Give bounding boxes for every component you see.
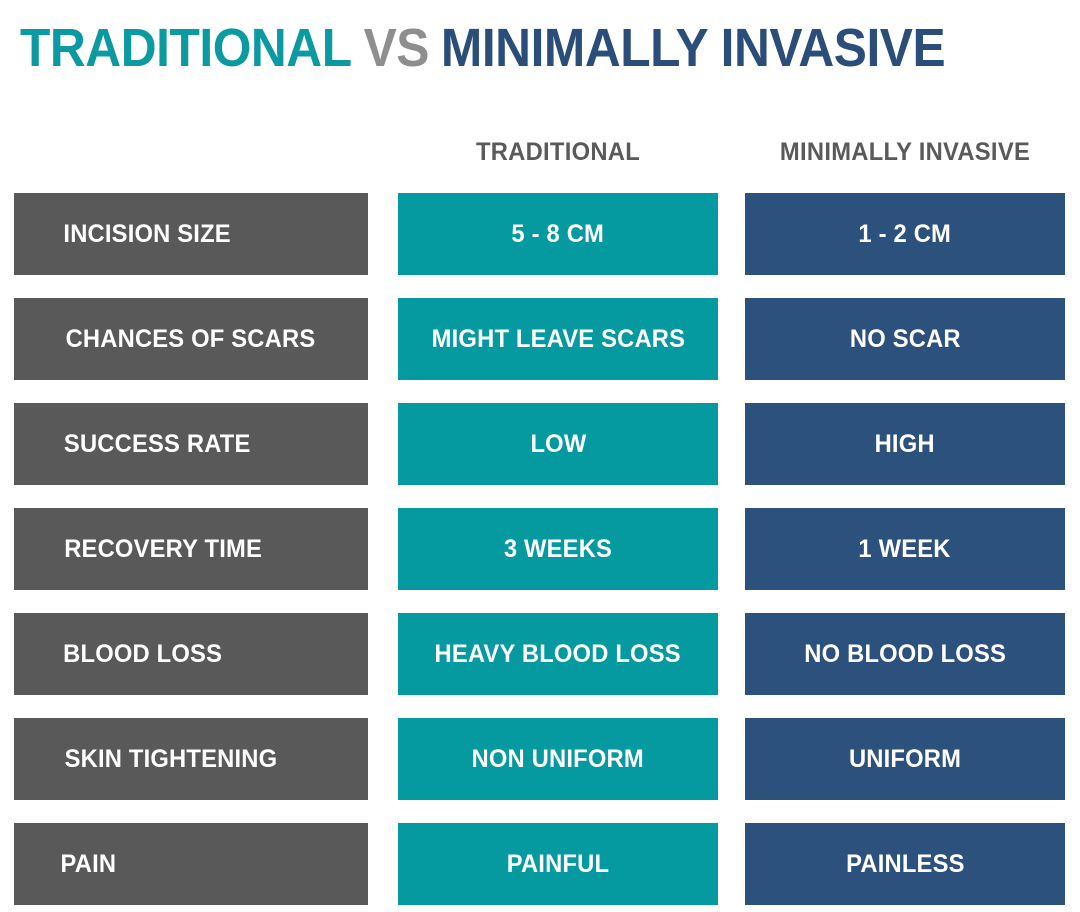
row-label-cell: SKIN TIGHTENING	[14, 718, 368, 800]
column-header-minimally-invasive: MINIMALLY INVASIVE	[753, 133, 1057, 171]
table-row: CHANCES OF SCARS MIGHT LEAVE SCARS NO SC…	[0, 298, 1080, 380]
column-header-traditional-label: TRADITIONAL	[476, 138, 640, 167]
minimally-invasive-value-cell: NO BLOOD LOSS	[745, 613, 1065, 695]
traditional-value-cell: HEAVY BLOOD LOSS	[398, 613, 718, 695]
row-label-text: RECOVERY TIME	[64, 535, 262, 564]
traditional-value-text: NON UNIFORM	[472, 745, 644, 774]
traditional-value-text: HEAVY BLOOD LOSS	[435, 640, 681, 669]
row-label-cell: PAIN	[14, 823, 368, 905]
row-label-cell: BLOOD LOSS	[14, 613, 368, 695]
table-row: PAIN PAINFUL PAINLESS	[0, 823, 1080, 905]
title-segment-vs: VS	[364, 21, 429, 75]
minimally-invasive-value-text: HIGH	[875, 430, 935, 459]
table-row: SUCCESS RATE LOW HIGH	[0, 403, 1080, 485]
minimally-invasive-value-text: PAINLESS	[846, 850, 965, 879]
traditional-value-text: 3 WEEKS	[504, 535, 612, 564]
comparison-table: INCISION SIZE 5 - 8 CM 1 - 2 CM CHANCES …	[0, 193, 1080, 905]
table-row: BLOOD LOSS HEAVY BLOOD LOSS NO BLOOD LOS…	[0, 613, 1080, 695]
row-label-text: CHANCES OF SCARS	[66, 325, 316, 354]
minimally-invasive-value-text: 1 WEEK	[859, 535, 951, 564]
page-title: TRADITIONAL VS MINIMALLY INVASIVE	[20, 14, 981, 82]
minimally-invasive-value-text: UNIFORM	[849, 745, 961, 774]
row-label-cell: SUCCESS RATE	[14, 403, 368, 485]
traditional-value-text: LOW	[530, 430, 586, 459]
minimally-invasive-value-cell: UNIFORM	[745, 718, 1065, 800]
title-segment-traditional: TRADITIONAL	[20, 21, 352, 75]
traditional-value-cell: PAINFUL	[398, 823, 718, 905]
minimally-invasive-value-cell: 1 - 2 CM	[745, 193, 1065, 275]
traditional-value-cell: LOW	[398, 403, 718, 485]
minimally-invasive-value-cell: PAINLESS	[745, 823, 1065, 905]
column-header-minimally-invasive-label: MINIMALLY INVASIVE	[780, 138, 1030, 167]
row-label-text: PAIN	[60, 850, 116, 879]
row-label-cell: RECOVERY TIME	[14, 508, 368, 590]
row-label-cell: CHANCES OF SCARS	[14, 298, 368, 380]
minimally-invasive-value-cell: NO SCAR	[745, 298, 1065, 380]
minimally-invasive-value-text: 1 - 2 CM	[859, 220, 952, 249]
table-row: INCISION SIZE 5 - 8 CM 1 - 2 CM	[0, 193, 1080, 275]
traditional-value-text: PAINFUL	[507, 850, 609, 879]
minimally-invasive-value-text: NO BLOOD LOSS	[804, 640, 1006, 669]
traditional-value-cell: 3 WEEKS	[398, 508, 718, 590]
minimally-invasive-value-cell: HIGH	[745, 403, 1065, 485]
comparison-infographic: TRADITIONAL VS MINIMALLY INVASIVE TRADIT…	[0, 0, 1080, 912]
table-row: SKIN TIGHTENING NON UNIFORM UNIFORM	[0, 718, 1080, 800]
traditional-value-text: 5 - 8 CM	[512, 220, 605, 249]
minimally-invasive-value-cell: 1 WEEK	[745, 508, 1065, 590]
traditional-value-cell: NON UNIFORM	[398, 718, 718, 800]
row-label-text: SUCCESS RATE	[64, 430, 251, 459]
column-header-traditional: TRADITIONAL	[406, 133, 710, 171]
traditional-value-cell: MIGHT LEAVE SCARS	[398, 298, 718, 380]
row-label-text: BLOOD LOSS	[63, 640, 222, 669]
traditional-value-text: MIGHT LEAVE SCARS	[431, 325, 685, 354]
title-segment-minimally-invasive: MINIMALLY INVASIVE	[441, 21, 945, 75]
traditional-value-cell: 5 - 8 CM	[398, 193, 718, 275]
row-label-cell: INCISION SIZE	[14, 193, 368, 275]
table-row: RECOVERY TIME 3 WEEKS 1 WEEK	[0, 508, 1080, 590]
row-label-text: INCISION SIZE	[63, 220, 230, 249]
row-label-text: SKIN TIGHTENING	[65, 745, 278, 774]
minimally-invasive-value-text: NO SCAR	[850, 325, 961, 354]
